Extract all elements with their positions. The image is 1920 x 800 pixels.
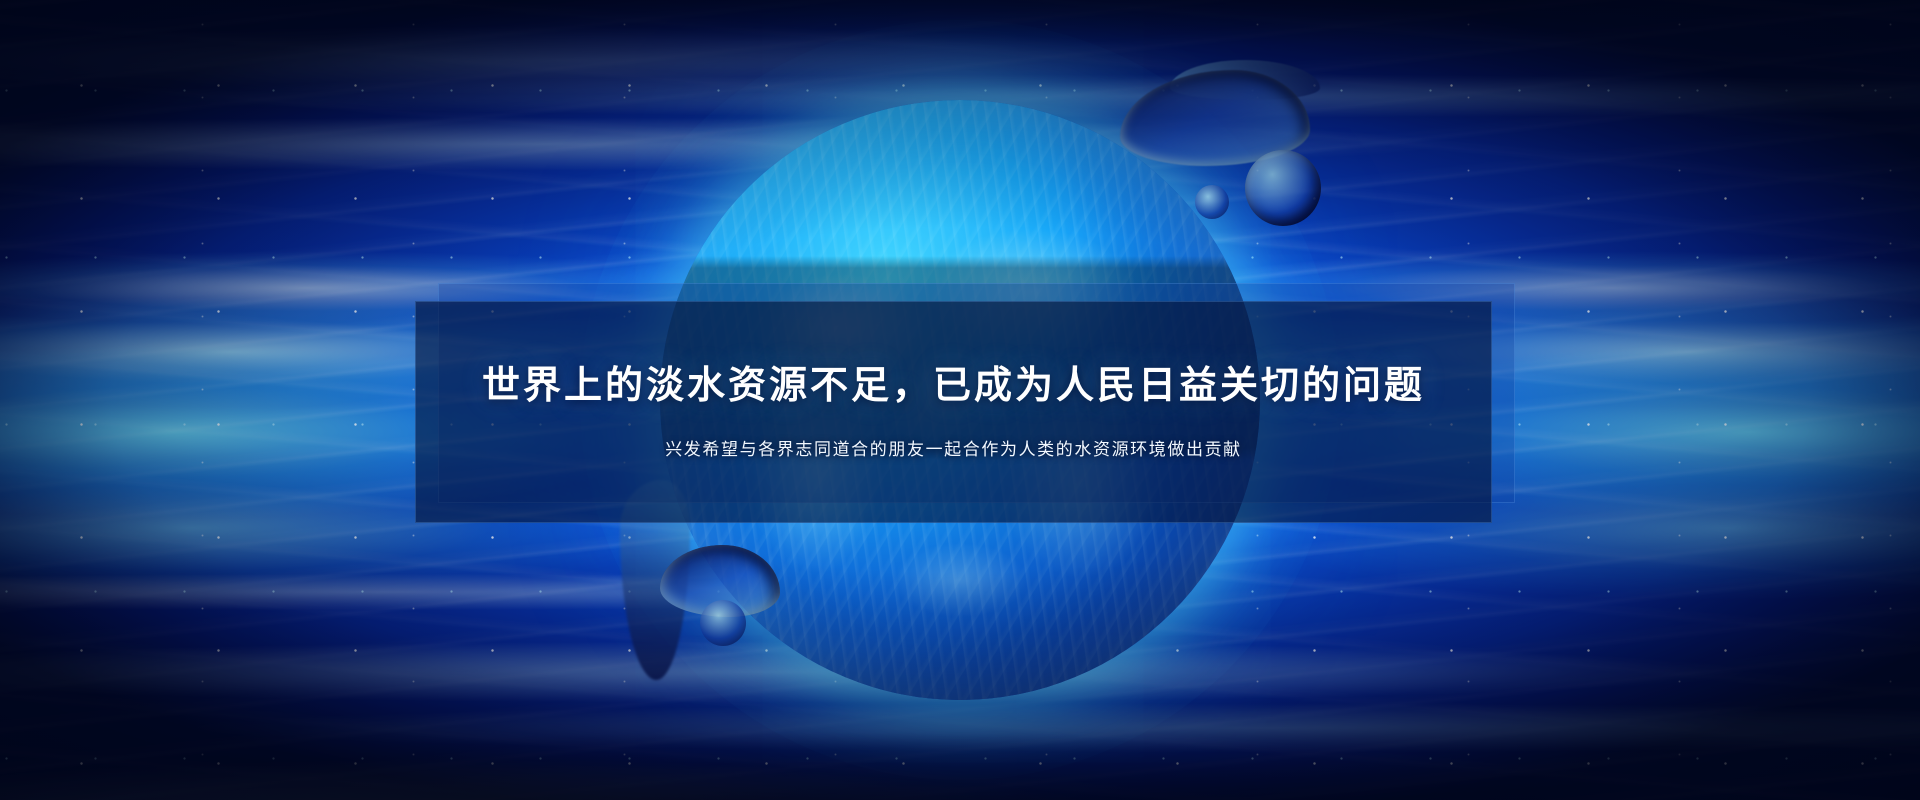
panel-inner-surface: 世界上的淡水资源不足，已成为人民日益关切的问题 兴发希望与各界志同道合的朋友一起…: [415, 301, 1492, 523]
hero-subheadline: 兴发希望与各界志同道合的朋友一起合作为人类的水资源环境做出贡献: [665, 437, 1242, 463]
hero-headline: 世界上的淡水资源不足，已成为人民日益关切的问题: [482, 362, 1425, 411]
hero-banner: 世界上的淡水资源不足，已成为人民日益关切的问题 兴发希望与各界志同道合的朋友一起…: [0, 0, 1920, 800]
hero-text-panel: 世界上的淡水资源不足，已成为人民日益关切的问题 兴发希望与各界志同道合的朋友一起…: [415, 283, 1515, 523]
water-droplet-icon: [1170, 60, 1320, 100]
